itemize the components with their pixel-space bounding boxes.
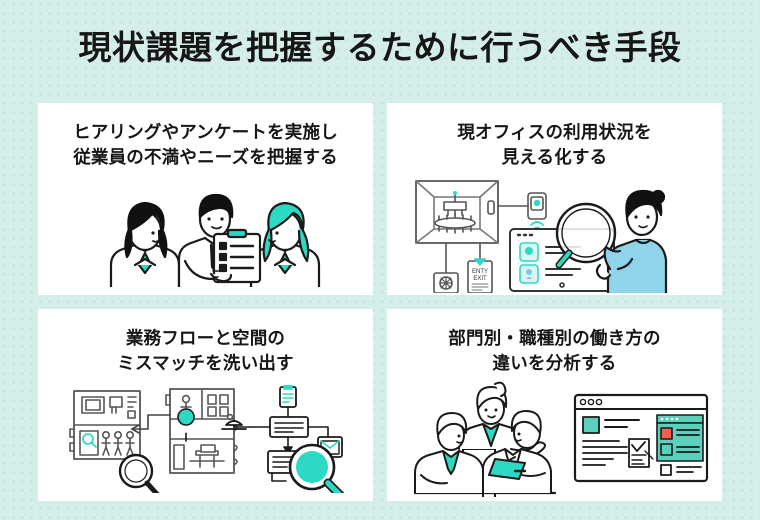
card-hearing-survey[interactable]: ヒアリングやアンケートを実施し 従業員の不満やニーズを把握する xyxy=(38,103,373,295)
card-department-analysis[interactable]: 部門別・職種別の働き方の 違いを分析する xyxy=(387,309,722,501)
illustration-three-people-clipboard xyxy=(38,171,373,295)
page-root: 現状課題を把握するために行うべき手段 ヒアリングやアンケートを実施し 従業員の不… xyxy=(0,0,760,520)
floorplan-left xyxy=(70,391,140,459)
sensor-device xyxy=(498,193,546,229)
illustration-meeting-and-dashboard xyxy=(387,377,722,501)
meeting-room-diagram xyxy=(416,181,498,243)
floorplan-right xyxy=(166,389,237,473)
tablet-device xyxy=(489,459,525,479)
page-title: 現状課題を把握するために行うべき手段 xyxy=(0,28,760,68)
card-grid: ヒアリングやアンケートを実施し 従業員の不満やニーズを把握する xyxy=(38,103,722,501)
clipboard-checklist xyxy=(214,230,260,282)
magnifier-icon-left xyxy=(120,455,157,493)
browser-dashboard xyxy=(575,395,707,481)
svg-text:ENTY: ENTY xyxy=(471,269,487,275)
entry-exit-sign: ENTY EXIT xyxy=(468,259,492,293)
card-title: 部門別・職種別の働き方の 違いを分析する xyxy=(448,326,660,377)
card-workflow-mismatch[interactable]: 業務フローと空間の ミスマッチを洗い出す xyxy=(38,309,373,501)
svg-text:EXIT: EXIT xyxy=(473,276,487,282)
vent-icon xyxy=(434,273,458,293)
card-title: 業務フローと空間の ミスマッチを洗い出す xyxy=(117,326,293,377)
card-office-usage[interactable]: 現オフィスの利用状況を 見える化する xyxy=(387,103,722,295)
card-title: ヒアリングやアンケートを実施し 従業員の不満やニーズを把握する xyxy=(73,120,338,171)
illustration-office-sensor-monitor: ENTY EXIT xyxy=(387,171,722,295)
person-left xyxy=(111,203,179,287)
card-title: 現オフィスの利用状況を 見える化する xyxy=(457,120,651,171)
person-right xyxy=(251,203,319,287)
illustration-floorplan-flowchart xyxy=(38,377,373,501)
